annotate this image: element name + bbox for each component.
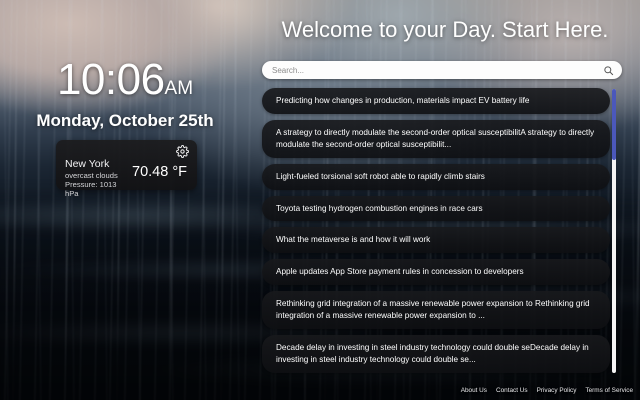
weather-temperature: 70.48 °F xyxy=(132,164,187,180)
footer-links: About UsContact UsPrivacy PolicyTerms of… xyxy=(461,387,633,394)
news-card[interactable]: Predicting how changes in production, ma… xyxy=(262,88,610,114)
weather-body: New York overcast clouds Pressure: 1013 … xyxy=(65,158,191,199)
news-card-title: Rethinking grid integration of a massive… xyxy=(276,299,590,320)
weather-text-group: New York overcast clouds Pressure: 1013 … xyxy=(65,158,132,199)
search-icon[interactable] xyxy=(603,65,614,76)
footer-link[interactable]: Terms of Service xyxy=(585,387,633,394)
news-card-title: Apple updates App Store payment rules in… xyxy=(276,267,524,276)
footer-link[interactable]: Contact Us xyxy=(496,387,528,394)
news-card-title: Decade delay in investing in steel indus… xyxy=(276,343,589,364)
clock-widget: 10:06AM Monday, October 25th xyxy=(0,58,250,131)
news-card-title: What the metaverse is and how it will wo… xyxy=(276,235,430,244)
news-card[interactable]: Rethinking grid integration of a massive… xyxy=(262,291,610,329)
footer-link[interactable]: About Us xyxy=(461,387,487,394)
news-scrollbar-track[interactable] xyxy=(612,89,616,373)
news-card[interactable]: A strategy to directly modulate the seco… xyxy=(262,120,610,158)
news-card[interactable]: Apple updates App Store payment rules in… xyxy=(262,259,610,285)
news-card-title: Light-fueled torsional soft robot able t… xyxy=(276,172,485,181)
right-panel: Welcome to your Day. Start Here. Predict… xyxy=(250,0,640,400)
news-list: Predicting how changes in production, ma… xyxy=(262,88,610,379)
news-card-title: A strategy to directly modulate the seco… xyxy=(276,128,594,149)
footer-link[interactable]: Privacy Policy xyxy=(537,387,577,394)
search-input[interactable] xyxy=(272,61,603,79)
clock-ampm: AM xyxy=(165,78,194,99)
news-card-title: Predicting how changes in production, ma… xyxy=(276,96,530,105)
gear-icon[interactable] xyxy=(176,145,189,158)
page-title: Welcome to your Day. Start Here. xyxy=(250,17,640,43)
clock-date: Monday, October 25th xyxy=(0,111,250,131)
weather-condition: overcast clouds xyxy=(65,171,132,180)
news-card[interactable]: Toyota testing hydrogen combustion engin… xyxy=(262,196,610,222)
weather-widget[interactable]: New York overcast clouds Pressure: 1013 … xyxy=(56,140,197,190)
weather-city: New York xyxy=(65,158,132,171)
clock-time: 10:06 xyxy=(57,55,165,104)
left-panel: 10:06AM Monday, October 25th New York ov… xyxy=(0,0,250,400)
weather-pressure: Pressure: 1013 hPa xyxy=(65,180,132,199)
news-scrollbar-thumb[interactable] xyxy=(612,89,616,160)
news-card[interactable]: Decade delay in investing in steel indus… xyxy=(262,335,610,373)
news-card-title: Toyota testing hydrogen combustion engin… xyxy=(276,204,483,213)
search-bar[interactable] xyxy=(262,61,622,79)
news-card[interactable]: Light-fueled torsional soft robot able t… xyxy=(262,164,610,190)
clock-time-row: 10:06AM xyxy=(0,58,250,102)
news-card[interactable]: What the metaverse is and how it will wo… xyxy=(262,227,610,253)
